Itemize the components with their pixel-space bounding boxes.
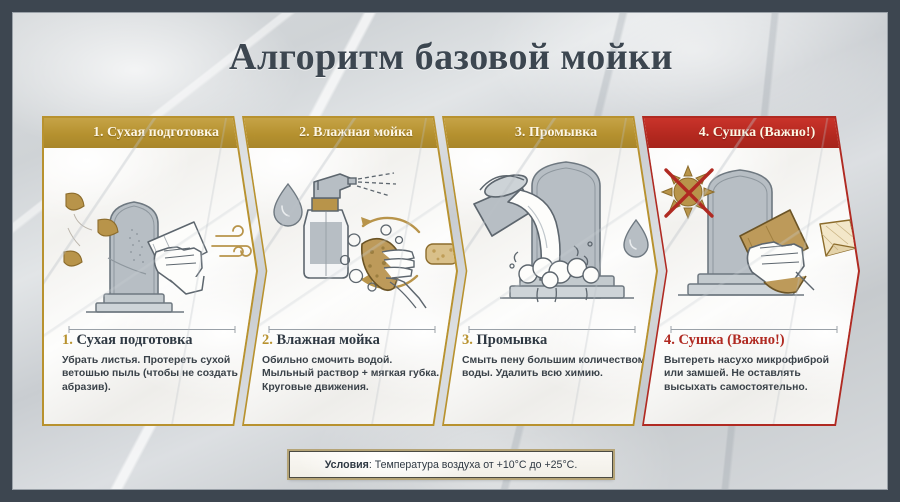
step-1-title-text: Сухая подготовка bbox=[77, 332, 193, 348]
step-panel-4[interactable]: 4. Сушка (Важно!) bbox=[642, 116, 860, 426]
step-3-title: 3. Промывка bbox=[462, 332, 646, 349]
step-3-title-text: Промывка bbox=[477, 332, 548, 348]
step-panel-3[interactable]: 3. Промывка bbox=[442, 116, 658, 426]
step-panel-1[interactable]: 1. Сухая подготовка bbox=[42, 116, 258, 426]
step-4-number: 4. bbox=[664, 332, 675, 348]
infographic-root: Алгоритм базовой мойки 1. Сухая подготов… bbox=[0, 0, 900, 502]
step-4-title: 4. Сушка (Важно!) bbox=[664, 332, 850, 349]
step-3-number: 3. bbox=[462, 332, 473, 348]
conditions-text: Условия: Температура воздуха от +10°C до… bbox=[325, 459, 578, 471]
water-drop-icon bbox=[274, 184, 302, 226]
sponge-icon bbox=[426, 244, 456, 264]
step-3-divider bbox=[468, 321, 636, 330]
conditions-value: Температура воздуха от +10°C до +25°C. bbox=[375, 459, 578, 471]
leaf-motion-lines bbox=[68, 214, 92, 246]
step-2-title-text: Влажная мойка bbox=[277, 332, 380, 348]
spray-lines-icon bbox=[357, 173, 396, 196]
steps-row: 1. Сухая подготовка bbox=[42, 116, 860, 426]
step-1-title: 1. Сухая подготовка bbox=[62, 332, 246, 349]
step-2-body: Обильно смочить водой. Мыльный раствор +… bbox=[262, 354, 446, 394]
wind-swirl-icon bbox=[212, 226, 251, 256]
hand-with-sponge-icon bbox=[362, 239, 426, 308]
sun-crossed-out-icon bbox=[662, 166, 714, 218]
step-1-number: 1. bbox=[62, 332, 73, 348]
step-2-number: 2. bbox=[262, 332, 273, 348]
conditions-bar: Условия: Температура воздуха от +10°C до… bbox=[289, 451, 613, 478]
folded-cloth-icon bbox=[820, 220, 856, 256]
step-4-body: Вытереть насухо микрофиброй или замшей. … bbox=[664, 354, 850, 394]
page-title: Алгоритм базовой мойки bbox=[13, 35, 888, 79]
step-3-illustration bbox=[444, 148, 656, 318]
step-panel-2[interactable]: 2. Влажная мойка bbox=[242, 116, 458, 426]
step-2-header: 2. Влажная мойка bbox=[244, 118, 456, 148]
marble-board: Алгоритм базовой мойки 1. Сухая подготов… bbox=[12, 12, 888, 490]
step-4-header: 4. Сушка (Важно!) bbox=[644, 118, 858, 148]
conditions-label: Условия bbox=[325, 459, 369, 471]
step-4-divider bbox=[670, 321, 838, 330]
step-1-illustration bbox=[44, 148, 256, 318]
step-1-divider bbox=[68, 321, 236, 330]
step-3-header: 3. Промывка bbox=[444, 118, 656, 148]
step-1-header: 1. Сухая подготовка bbox=[44, 118, 256, 148]
step-1-body: Убрать листья. Протереть сухой ветошью п… bbox=[62, 354, 246, 394]
step-2-illustration bbox=[244, 148, 456, 318]
step-3-body: Смыть пену большим количеством воды. Уда… bbox=[462, 354, 646, 381]
step-4-title-text: Сушка (Важно!) bbox=[679, 332, 785, 348]
step-2-title: 2. Влажная мойка bbox=[262, 332, 446, 349]
step-4-illustration bbox=[644, 148, 858, 318]
water-drop-icon bbox=[624, 220, 648, 257]
step-2-divider bbox=[268, 321, 436, 330]
